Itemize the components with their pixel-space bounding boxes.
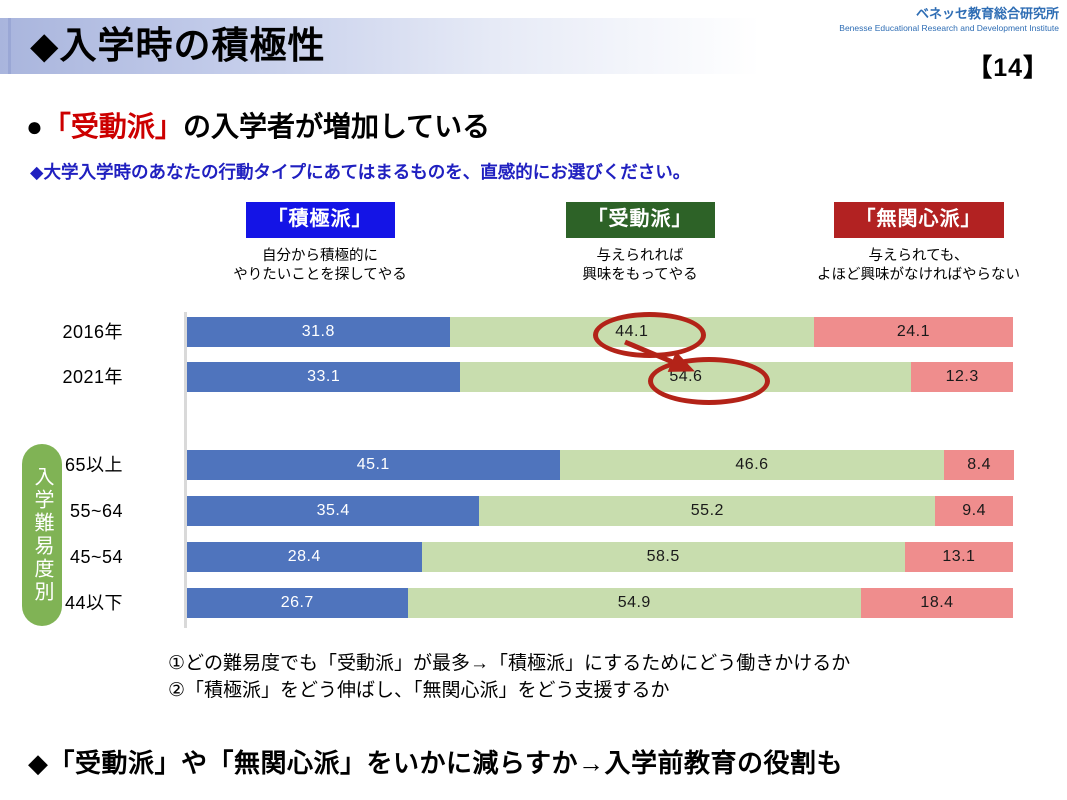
chart-row-segments: 35.455.29.4 xyxy=(187,496,1013,526)
chart-bar-row: 65以上45.146.68.4 xyxy=(0,450,1013,480)
chart-bar-row: 44以下26.754.918.4 xyxy=(0,588,1013,618)
chart-segment-passive: 54.6 xyxy=(460,362,911,392)
chart-segment-passive: 58.5 xyxy=(422,542,905,572)
chart-segment-indifferent: 13.1 xyxy=(905,542,1013,572)
chart-segment-positive: 45.1 xyxy=(187,450,560,480)
chart-segment-passive: 54.9 xyxy=(408,588,861,618)
chart-segment-passive: 55.2 xyxy=(479,496,935,526)
chart-bar-row: 2021年33.154.612.3 xyxy=(0,362,1013,392)
chart-row-segments: 28.458.513.1 xyxy=(187,542,1013,572)
chart-segment-indifferent: 8.4 xyxy=(944,450,1013,480)
chart-segment-indifferent: 9.4 xyxy=(935,496,1013,526)
chart-row-segments: 33.154.612.3 xyxy=(187,362,1013,392)
chart-row-segments: 26.754.918.4 xyxy=(187,588,1013,618)
chart-note-2: ②「積極派」をどう伸ばし、「無関心派」をどう支援するか xyxy=(168,677,850,704)
chart-segment-indifferent: 12.3 xyxy=(911,362,1013,392)
footer-conclusion: ◆「受動派」や「無関心派」をいかに減らすか→入学前教育の役割も xyxy=(28,743,843,780)
chart-segment-indifferent: 18.4 xyxy=(861,588,1013,618)
chart-row-label: 2016年 xyxy=(18,317,123,347)
chart-segment-positive: 28.4 xyxy=(187,542,422,572)
chart-row-segments: 45.146.68.4 xyxy=(187,450,1013,480)
chart-segment-passive: 44.1 xyxy=(450,317,814,347)
chart-segment-positive: 26.7 xyxy=(187,588,408,618)
chart-notes: ①どの難易度でも「受動派」が最多→「積極派」にするためにどう働きかけるか ②「積… xyxy=(168,650,850,704)
difficulty-group-label-text: 入学難易度別 xyxy=(22,466,62,604)
chart-note-1: ①どの難易度でも「受動派」が最多→「積極派」にするためにどう働きかけるか xyxy=(168,650,850,677)
chart-segment-positive: 35.4 xyxy=(187,496,479,526)
chart-segment-passive: 46.6 xyxy=(560,450,945,480)
chart-bar-row: 2016年31.844.124.1 xyxy=(0,317,1013,347)
chart-row-label: 2021年 xyxy=(18,362,123,392)
chart-segment-positive: 33.1 xyxy=(187,362,460,392)
difficulty-group-label: 入学難易度別 xyxy=(22,444,62,626)
chart-segment-indifferent: 24.1 xyxy=(814,317,1013,347)
chart-bar-row: 45~5428.458.513.1 xyxy=(0,542,1013,572)
chart-segment-positive: 31.8 xyxy=(187,317,450,347)
chart-bar-row: 55~6435.455.29.4 xyxy=(0,496,1013,526)
chart-row-segments: 31.844.124.1 xyxy=(187,317,1013,347)
